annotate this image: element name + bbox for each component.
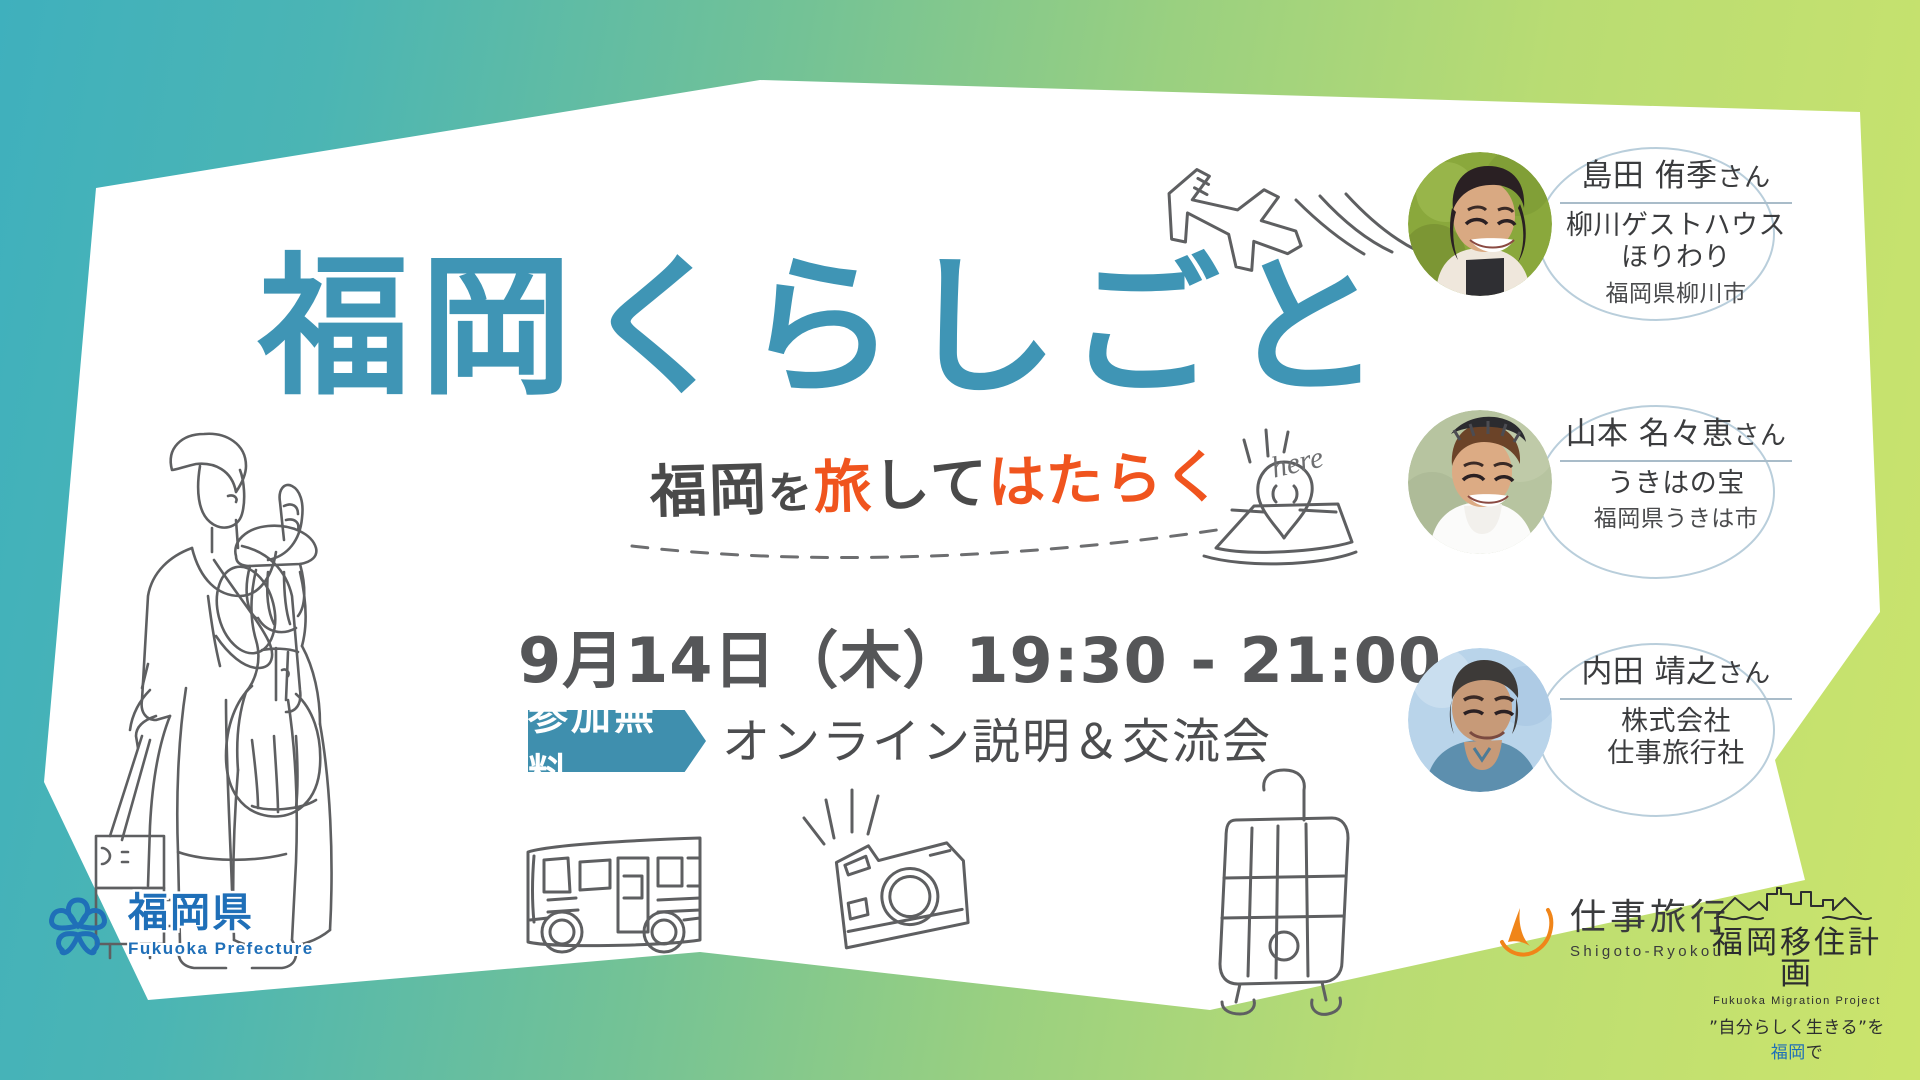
speaker-name-text: 内田 靖之 [1581, 654, 1717, 690]
speaker-name: 山本 名々恵さん [1560, 416, 1792, 459]
divider [1560, 460, 1792, 462]
divider [1560, 202, 1792, 204]
speaker-info: 内田 靖之さん 株式会社 仕事旅行社 [1560, 654, 1792, 771]
free-admission-badge: 参加無料 [528, 710, 706, 772]
speaker-org-line: うきはの宝 [1560, 468, 1792, 500]
speaker-location: 福岡県うきは市 [1560, 505, 1792, 534]
tagline-post: で [1806, 1043, 1824, 1063]
speaker-honorific: さん [1718, 659, 1771, 689]
speaker-name: 内田 靖之さん [1560, 654, 1792, 697]
speaker-name: 島田 侑季さん [1560, 158, 1792, 201]
migration-name-ja: 福岡移住計画 [1705, 928, 1889, 990]
speaker-info: 山本 名々恵さん うきはの宝 福岡県うきは市 [1560, 416, 1792, 534]
shigoto-ryokou-logo: 仕事旅行 Shigoto-Ryokou [1496, 898, 1730, 962]
prefecture-name-en: Fukuoka Prefecture [128, 939, 314, 959]
fukuoka-migration-project-logo: 福岡移住計画 Fukuoka Migration Project ”自分らしく生… [1705, 884, 1889, 1063]
speaker-honorific: さん [1733, 421, 1786, 451]
speaker-info: 島田 侑季さん 柳川ゲストハウス ほりわり 福岡県柳川市 [1560, 158, 1792, 308]
avatar [1408, 648, 1552, 792]
fukuoka-flower-mark-icon [40, 888, 116, 964]
speaker-org-line: 株式会社 [1560, 706, 1792, 738]
divider [1560, 698, 1792, 700]
speaker-org-line: 柳川ゲストハウス [1560, 210, 1792, 242]
event-type-label: オンライン説明＆交流会 [722, 712, 1272, 773]
event-date-time: 9月14日（木）19:30 - 21:00 [518, 630, 1442, 692]
migration-tagline: ”自分らしく生きる”を福岡で [1705, 1013, 1889, 1063]
migration-name-en: Fukuoka Migration Project [1705, 995, 1889, 1007]
shigoto-leaf-mark-icon [1496, 898, 1560, 962]
speaker-name-text: 島田 侑季 [1581, 158, 1717, 194]
tagline-highlight: 福岡 [1771, 1043, 1806, 1063]
avatar [1408, 152, 1552, 296]
speaker-name-text: 山本 名々恵 [1566, 416, 1734, 452]
speaker-honorific: さん [1718, 163, 1771, 193]
speaker-org-line: ほりわり [1560, 242, 1792, 274]
speaker-location: 福岡県柳川市 [1560, 280, 1792, 309]
tagline-pre: ”自分らしく生きる”を [1709, 1018, 1885, 1038]
speaker-org-line: 仕事旅行社 [1560, 738, 1792, 770]
fukuoka-prefecture-logo: 福岡県 Fukuoka Prefecture [40, 888, 314, 964]
avatar [1408, 410, 1552, 554]
cityscape-mark-icon [1705, 884, 1889, 924]
event-banner: 福岡くらしごと 福岡を旅してはたらく here 9月14日（木）19:30 - … [0, 0, 1920, 1080]
prefecture-name-ja: 福岡県 [128, 893, 314, 933]
